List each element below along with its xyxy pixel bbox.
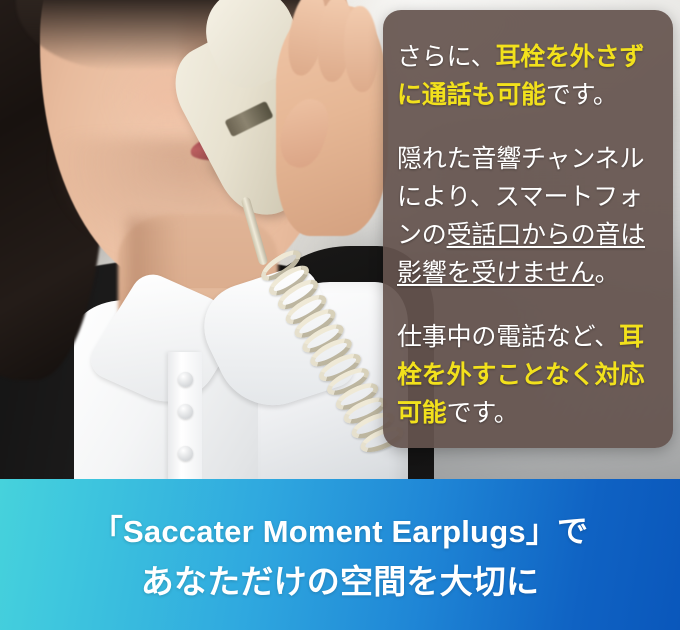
banner-headline-line-2: あなただけの空間を大切に: [141, 555, 539, 603]
hero-photo: さらに、耳栓を外さずに通話も可能です。 隠れた音響チャンネルにより、スマートフォ…: [0, 0, 680, 479]
feature-text-card: さらに、耳栓を外さずに通話も可能です。 隠れた音響チャンネルにより、スマートフォ…: [383, 10, 673, 448]
body-text: です。: [546, 81, 618, 109]
card-paragraph-2: 隠れた音響チャンネルにより、スマートフォンの受話口からの音は影響を受けません。: [397, 140, 655, 292]
banner-headline-line-1: 「Saccater Moment Earplugs」で: [92, 506, 588, 551]
shirt-button: [178, 446, 193, 461]
body-text: さらに、: [397, 43, 495, 71]
promo-banner-page: さらに、耳栓を外さずに通話も可能です。 隠れた音響チャンネルにより、スマートフォ…: [0, 0, 680, 630]
card-paragraph-1: さらに、耳栓を外さずに通話も可能です。: [397, 38, 655, 114]
body-text: 仕事中の電話など、: [397, 323, 619, 351]
body-text: です。: [447, 399, 519, 427]
shirt-button: [178, 372, 193, 387]
bottom-tagline-banner: 「Saccater Moment Earplugs」で あなただけの空間を大切に: [0, 479, 680, 630]
shirt-button: [178, 404, 193, 419]
card-paragraph-3: 仕事中の電話など、耳栓を外すことなく対応可能です。: [397, 318, 655, 432]
body-text: 。: [595, 259, 620, 287]
woman-figure: [0, 0, 420, 479]
